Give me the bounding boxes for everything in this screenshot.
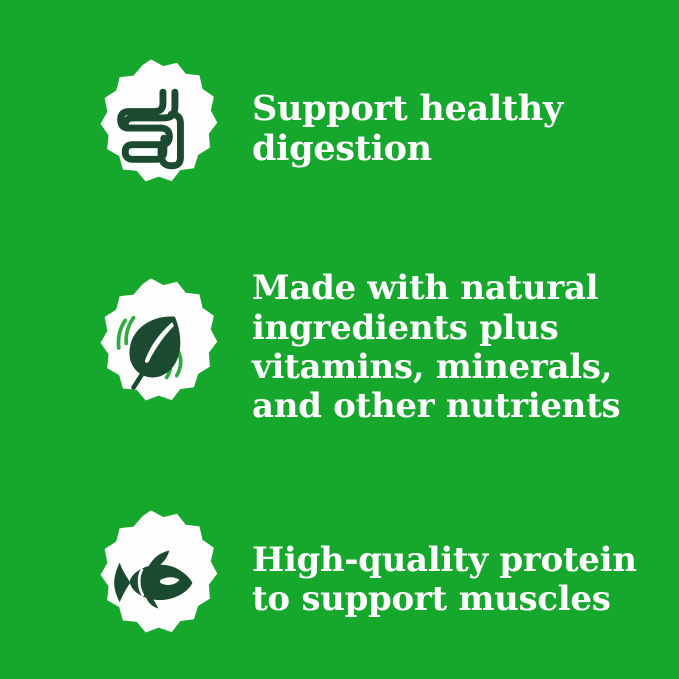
benefit-text-digestion: Support healthy digestion (252, 89, 563, 168)
benefit-row: High-quality protein to support muscles (0, 500, 679, 660)
benefit-row: Support healthy digestion (0, 36, 679, 222)
fish-icon (105, 534, 197, 626)
leaf-icon (105, 302, 197, 394)
benefit-badge-digestion (80, 58, 222, 200)
pet-food-benefits-panel: Support healthy digestion (0, 0, 679, 679)
benefit-row: Made with natural ingredients plus vitam… (0, 242, 679, 454)
benefit-badge-natural (80, 277, 222, 419)
benefit-text-natural: Made with natural ingredients plus vitam… (252, 269, 620, 427)
benefit-text-protein: High-quality protein to support muscles (252, 541, 637, 620)
intestine-icon (105, 83, 197, 175)
benefit-badge-protein (80, 509, 222, 651)
